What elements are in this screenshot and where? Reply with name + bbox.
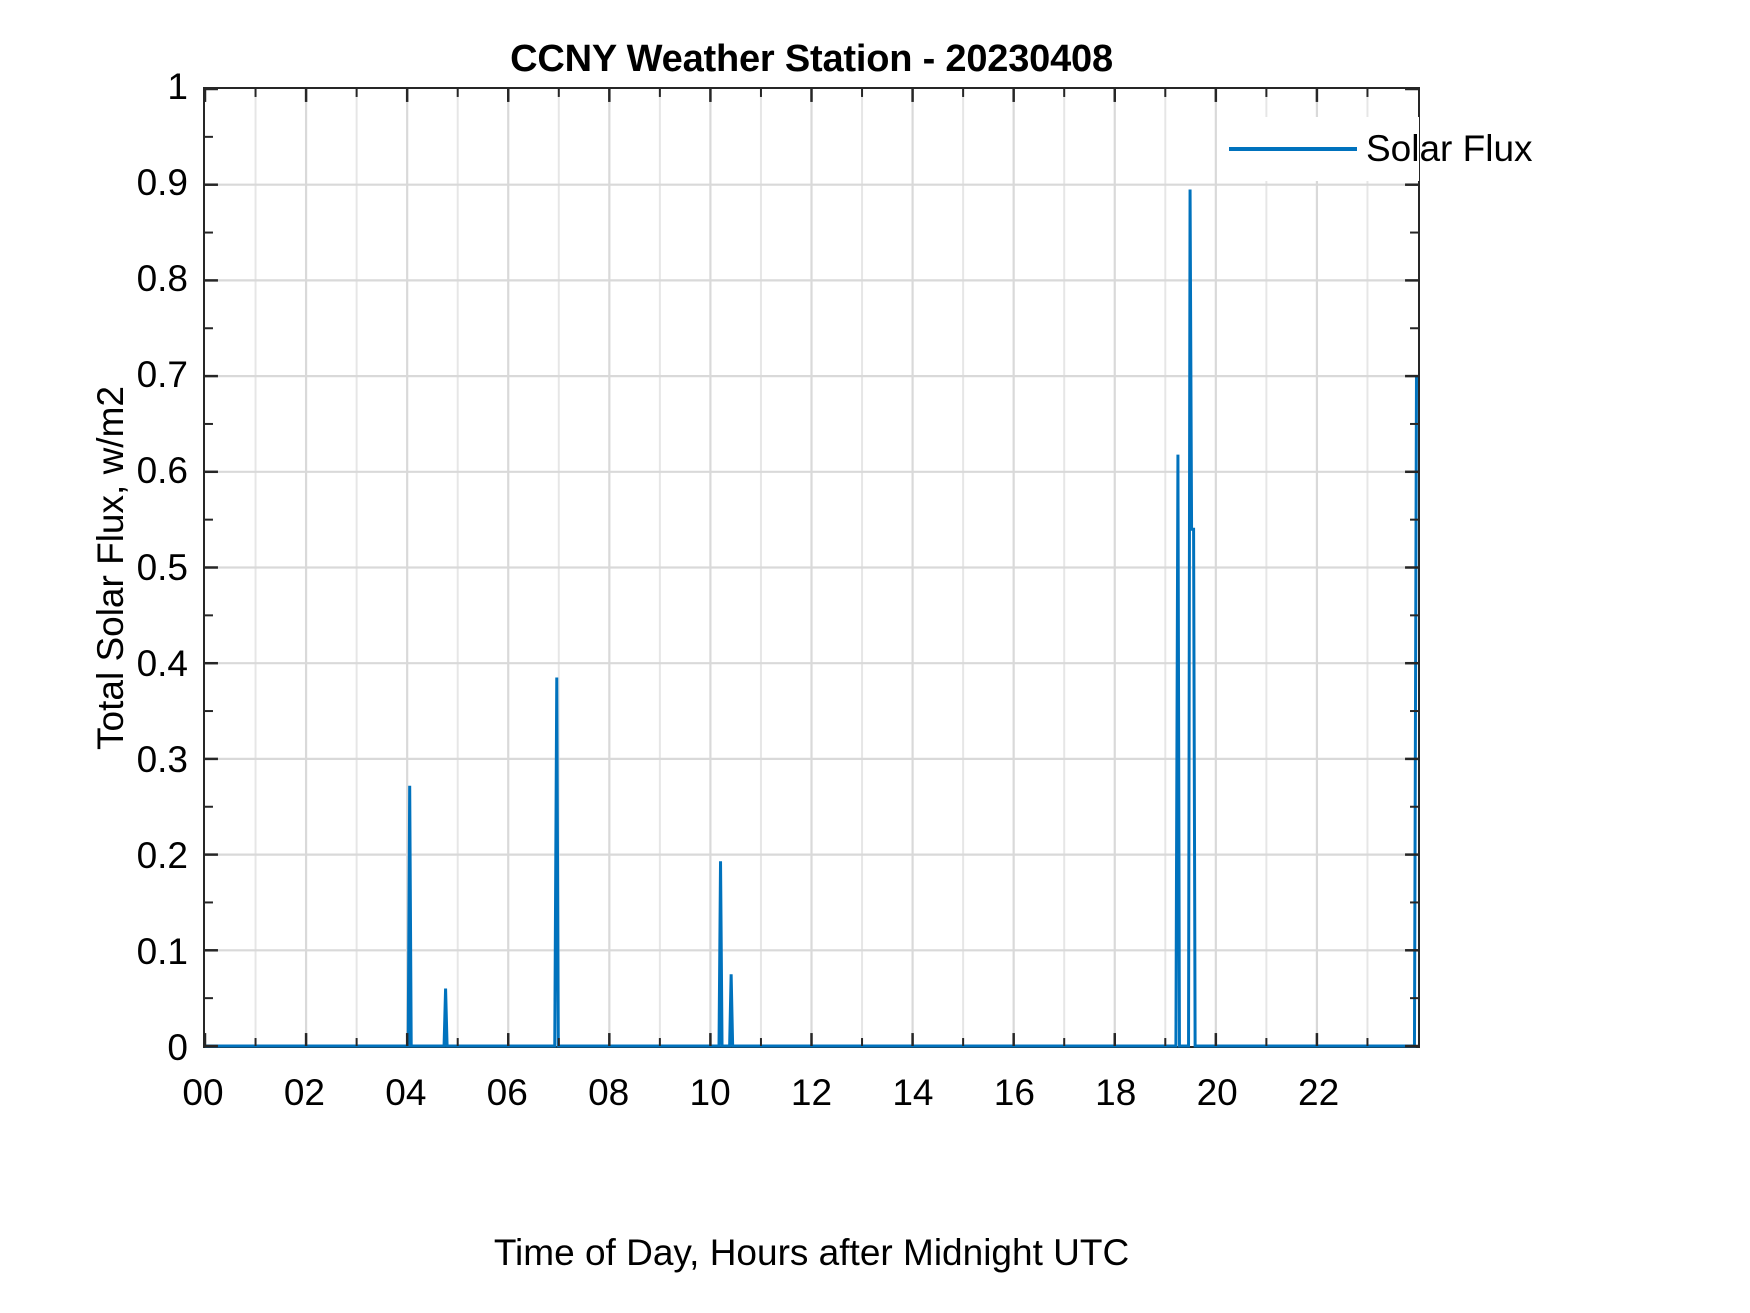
y-tick-label: 0.9 [0, 162, 188, 204]
page-title: CCNY Weather Station - 20230408 [203, 38, 1420, 81]
x-axis-label: Time of Day, Hours after Midnight UTC [203, 1232, 1420, 1274]
y-tick-label: 0.8 [0, 258, 188, 300]
y-tick-label: 0.7 [0, 354, 188, 396]
plot-area [203, 87, 1420, 1048]
y-tick-label: 0 [0, 1027, 188, 1069]
legend: Solar Flux [1229, 117, 1419, 181]
legend-label: Solar Flux [1366, 128, 1533, 170]
y-tick-label: 0.5 [0, 547, 188, 589]
y-tick-label: 1 [0, 66, 188, 108]
y-tick-label: 0.4 [0, 643, 188, 685]
y-tick-label: 0.1 [0, 931, 188, 973]
tick-marks-layer [205, 89, 1418, 1046]
x-tick-label: 22 [1259, 1072, 1379, 1114]
figure-canvas: CCNY Weather Station - 20230408 Total So… [0, 0, 1750, 1313]
y-tick-label: 0.6 [0, 450, 188, 492]
legend-line-swatch [1229, 147, 1357, 151]
y-tick-label: 0.2 [0, 835, 188, 877]
y-tick-label: 0.3 [0, 739, 188, 781]
